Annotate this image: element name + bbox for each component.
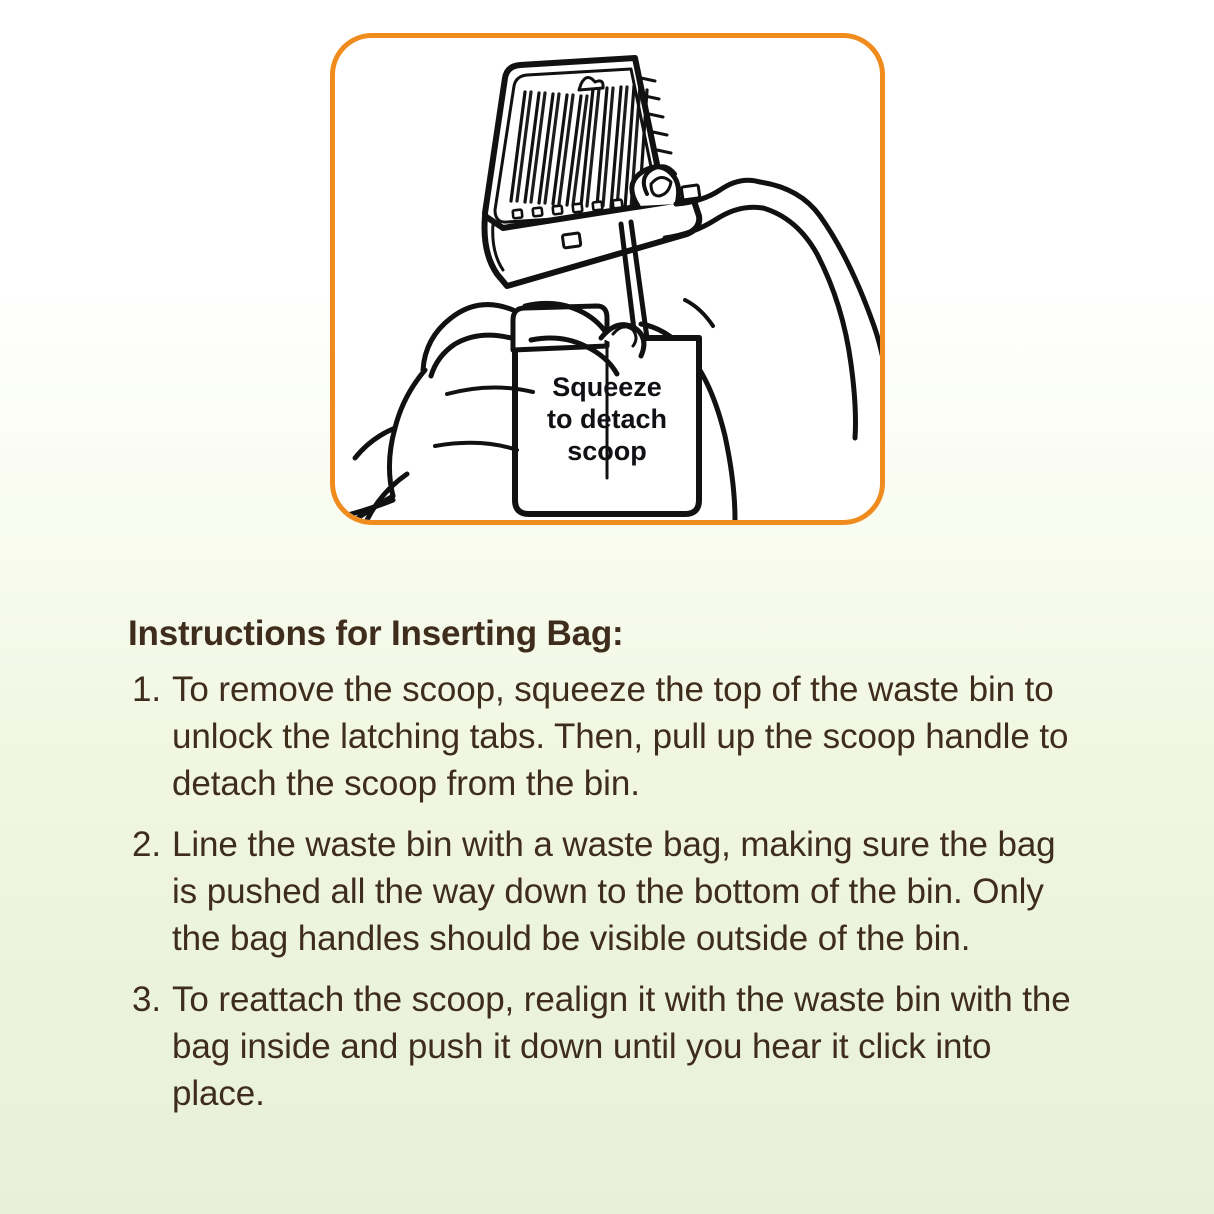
latch-hole-left [562, 233, 581, 248]
caption-line-1: Squeeze [552, 372, 662, 402]
list-item-text: To remove the scoop, squeeze the top of … [172, 666, 1088, 807]
list-item-number: 1. [132, 666, 166, 713]
illustration-frame: Squeeze to detach scoop [330, 33, 885, 525]
list-item-text: Line the waste bin with a waste bag, mak… [172, 821, 1088, 962]
list-item-text: To reattach the scoop, realign it with t… [172, 976, 1088, 1117]
instruction-page: Squeeze to detach scoop Instructions for… [0, 0, 1214, 1214]
caption-line-3: scoop [567, 436, 647, 466]
instruction-steps-list: 1. To remove the scoop, squeeze the top … [128, 666, 1088, 1117]
instructions-block: Instructions for Inserting Bag: 1. To re… [128, 612, 1088, 1117]
list-item-number: 3. [132, 976, 166, 1023]
scoop-detach-drawing: Squeeze to detach scoop [335, 38, 880, 520]
list-item-number: 2. [132, 821, 166, 868]
list-item: 3. To reattach the scoop, realign it wit… [128, 976, 1088, 1117]
list-item: 2. Line the waste bin with a waste bag, … [128, 821, 1088, 962]
page-title: Instructions for Inserting Bag: [128, 612, 1088, 656]
list-item: 1. To remove the scoop, squeeze the top … [128, 666, 1088, 807]
caption-line-2: to detach [547, 404, 667, 434]
latch-hole-right [681, 185, 700, 200]
